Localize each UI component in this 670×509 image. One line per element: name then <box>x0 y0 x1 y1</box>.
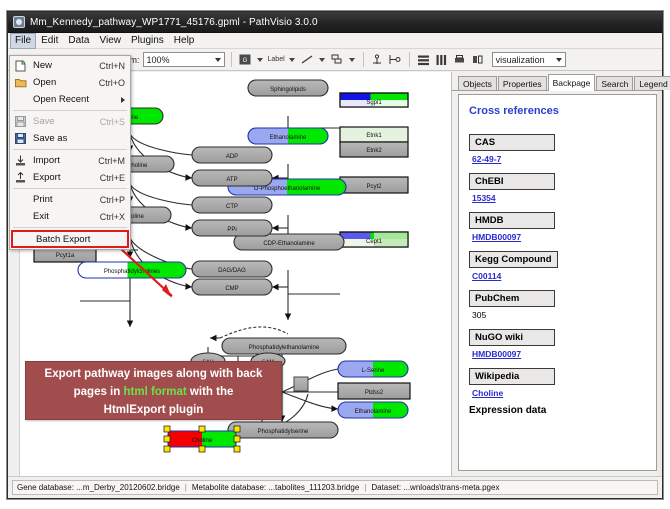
import-icon <box>12 154 29 168</box>
file-menu-item-open-label: Open <box>29 77 99 88</box>
file-menu-item-import[interactable]: Import Ctrl+M <box>10 152 130 169</box>
xref-chebi-value[interactable]: 15354 <box>472 193 656 203</box>
file-menu-item-import-accel: Ctrl+M <box>98 156 130 166</box>
xref-chebi-label: ChEBI <box>469 173 555 190</box>
xref-chebi-link[interactable]: 15354 <box>472 193 496 203</box>
svg-text:DAG/DAG: DAG/DAG <box>218 268 246 274</box>
svg-text:Pcyt1a: Pcyt1a <box>56 253 75 259</box>
folder-open-icon <box>12 76 29 90</box>
callout-line-1: Export pathway images along with back <box>26 365 281 383</box>
svg-text:Phosphatidylethanolamine: Phosphatidylethanolamine <box>249 345 320 351</box>
svg-text:O-Phosphoethanolamine: O-Phosphoethanolamine <box>254 186 321 192</box>
status-gene-db-value: ...m_Derby_20120602.bridge <box>76 483 180 492</box>
svg-text:CMP: CMP <box>225 286 238 292</box>
svg-text:Phosphatidylserine: Phosphatidylserine <box>258 429 309 435</box>
svg-text:Sgpl1: Sgpl1 <box>366 100 382 106</box>
file-menu-item-print-accel: Ctrl+P <box>100 195 130 205</box>
menu-plugins[interactable]: Plugins <box>126 33 169 49</box>
file-menu-item-exit-label: Exit <box>29 211 100 222</box>
file-menu-item-import-label: Import <box>29 155 98 166</box>
file-menu-item-open[interactable]: Open Ctrl+O <box>10 74 130 91</box>
menu-help[interactable]: Help <box>169 33 200 49</box>
xref-cas: CAS 62-49-7 <box>469 132 656 164</box>
xref-kegg-link[interactable]: C00114 <box>472 271 501 281</box>
svg-text:Ptdss2: Ptdss2 <box>365 390 384 396</box>
file-menu-item-batch-export[interactable]: Batch Export <box>11 230 129 248</box>
svg-text:CDP-Ethanolamine: CDP-Ethanolamine <box>263 241 315 247</box>
grid-icon[interactable]: G <box>238 52 253 67</box>
xref-hmdb-value[interactable]: HMDB00097 <box>472 232 656 242</box>
status-dataset-label: Dataset: <box>371 483 401 492</box>
svg-text:Pcyt2: Pcyt2 <box>366 184 382 190</box>
line-chevron-down-icon[interactable] <box>319 58 325 62</box>
visualization-value: visualization <box>496 55 545 65</box>
tab-legend[interactable]: Legend <box>634 76 670 90</box>
svg-text:ADP: ADP <box>226 154 238 160</box>
file-menu-item-open-recent-label: Open Recent <box>29 94 130 105</box>
menu-edit[interactable]: Edit <box>36 33 63 49</box>
pathvisio-icon <box>13 16 25 28</box>
toolbar-divider <box>231 52 232 67</box>
svg-text:G: G <box>243 58 248 64</box>
xref-pubchem-label: PubChem <box>469 290 555 307</box>
menu-bar: File Edit Data View Plugins Help <box>8 33 662 49</box>
anchor-icon[interactable] <box>370 52 385 67</box>
new-file-icon <box>12 59 29 73</box>
xref-kegg-label: Kegg Compound <box>469 251 558 268</box>
file-menu-separator-1 <box>13 110 127 111</box>
file-menu-item-save-accel: Ctrl+S <box>100 117 130 127</box>
status-metabolite-db-label: Metabolite database: <box>192 483 266 492</box>
zoom-combobox[interactable]: 100% <box>143 52 225 67</box>
file-menu-item-exit-accel: Ctrl+X <box>100 212 130 222</box>
align-rows-icon[interactable] <box>416 52 431 67</box>
expression-data-heading: Expression data <box>469 405 656 416</box>
visualization-chevron-down-icon <box>556 58 562 62</box>
callout-line-3: HtmlExport plugin <box>26 401 281 419</box>
xref-wikipedia-link[interactable]: Choline <box>472 388 503 398</box>
svg-text:Choline: Choline <box>192 438 213 444</box>
xref-kegg: Kegg Compound C00114 <box>469 249 656 281</box>
open-recent-icon <box>12 93 29 107</box>
xref-hmdb: HMDB HMDB00097 <box>469 210 656 242</box>
label-icon[interactable]: Label <box>268 56 285 63</box>
xref-cas-label: CAS <box>469 134 555 151</box>
group-icon[interactable] <box>470 52 485 67</box>
xref-cas-value[interactable]: 62-49-7 <box>472 154 656 164</box>
export-icon <box>12 171 29 185</box>
file-menu-item-open-accel: Ctrl+O <box>99 78 130 88</box>
side-panel-scrollbar[interactable] <box>657 91 662 476</box>
callout-line-2-a: pages in <box>74 386 124 398</box>
file-menu-separator-2 <box>13 149 127 150</box>
file-menu-item-new[interactable]: New Ctrl+N <box>10 57 130 74</box>
tab-properties[interactable]: Properties <box>498 76 547 90</box>
file-menu-separator-3 <box>13 188 127 189</box>
backpage-title: Cross references <box>469 105 656 117</box>
visualization-combobox[interactable]: visualization <box>492 52 566 67</box>
file-menu-separator-4 <box>13 227 127 228</box>
save-as-icon <box>12 132 29 146</box>
status-bar: Gene database: ...m_Derby_20120602.bridg… <box>8 476 662 498</box>
title-bar: Mm_Kennedy_pathway_WP1771_45176.gpml - P… <box>8 12 662 33</box>
svg-text:Ethanolamine: Ethanolamine <box>270 135 307 141</box>
file-menu-item-export[interactable]: Export Ctrl+E <box>10 169 130 186</box>
status-text: Gene database: ...m_Derby_20120602.bridg… <box>12 480 658 495</box>
application-window: Mm_Kennedy_pathway_WP1771_45176.gpml - P… <box>7 11 663 499</box>
file-menu-item-save-as-label: Save as <box>29 133 125 144</box>
svg-text:Ethanolamine: Ethanolamine <box>355 409 392 415</box>
status-gene-db-label: Gene database: <box>17 483 74 492</box>
xref-cas-link[interactable]: 62-49-7 <box>472 154 501 164</box>
side-panel: Objects Properties Backpage Search Legen… <box>452 72 662 476</box>
svg-text:Cept1: Cept1 <box>366 239 383 245</box>
save-icon <box>12 115 29 129</box>
status-divider-2: | <box>364 483 366 492</box>
print-menu-icon <box>12 193 29 207</box>
file-menu-item-save-label: Save <box>29 116 100 127</box>
svg-text:L-Serine: L-Serine <box>362 368 385 374</box>
line-icon[interactable] <box>300 52 315 67</box>
backpage-content[interactable]: Cross references CAS 62-49-7 ChEBI 15354… <box>458 94 657 471</box>
xref-kegg-value[interactable]: C00114 <box>472 271 656 281</box>
file-menu-item-new-label: New <box>29 60 99 71</box>
file-menu-item-save-as[interactable]: Save as <box>10 130 130 147</box>
exit-icon <box>12 210 29 224</box>
screenshot-root: Mm_Kennedy_pathway_WP1771_45176.gpml - P… <box>0 0 670 509</box>
xref-nugo-value[interactable]: HMDB00097 <box>472 349 656 359</box>
file-menu-item-open-recent[interactable]: Open Recent <box>10 91 130 108</box>
zoom-value: 100% <box>147 55 170 65</box>
file-menu-item-print-label: Print <box>29 194 100 205</box>
status-divider-1: | <box>185 483 187 492</box>
svg-text:PPi: PPi <box>227 227 236 233</box>
shape-chevron-down-icon[interactable] <box>349 58 355 62</box>
xref-chebi: ChEBI 15354 <box>469 171 656 203</box>
svg-text:ATP: ATP <box>226 177 237 183</box>
file-menu-item-export-label: Export <box>29 172 100 183</box>
status-dataset-value: ...wnloads\trans-meta.pgex <box>403 483 499 492</box>
callout-line-2-b: with the <box>187 386 234 398</box>
tab-backpage[interactable]: Backpage <box>548 74 596 91</box>
xref-wikipedia: Wikipedia Choline <box>469 366 656 398</box>
svg-text:Sphingolipids: Sphingolipids <box>270 87 306 93</box>
xref-nugo-label: NuGO wiki <box>469 329 555 346</box>
grid-chevron-down-icon[interactable] <box>257 58 263 62</box>
file-menu-item-export-accel: Ctrl+E <box>100 173 130 183</box>
xref-hmdb-link[interactable]: HMDB00097 <box>472 232 521 242</box>
menu-file[interactable]: File <box>10 33 36 49</box>
toolbar-divider-3 <box>409 52 410 67</box>
file-menu-dropdown[interactable]: New Ctrl+N Open Ctrl+O Open Recent <box>9 55 131 250</box>
svg-text:Phosphatidylcholines: Phosphatidylcholines <box>104 269 160 275</box>
tab-objects[interactable]: Objects <box>458 76 497 90</box>
anchor-link-icon[interactable] <box>388 52 403 67</box>
chevron-right-icon <box>121 97 125 103</box>
callout-annotation: Export pathway images along with back pa… <box>25 361 282 420</box>
file-menu-item-save[interactable]: Save Ctrl+S <box>10 113 130 130</box>
batch-export-icon <box>15 232 32 246</box>
xref-pubchem-value: 305 <box>472 310 656 320</box>
xref-hmdb-label: HMDB <box>469 212 555 229</box>
callout-highlight: html format <box>123 386 186 398</box>
label-chevron-down-icon[interactable] <box>289 58 295 62</box>
print-icon[interactable] <box>452 52 467 67</box>
svg-text:Etnk1: Etnk1 <box>366 133 382 139</box>
file-menu-item-exit[interactable]: Exit Ctrl+X <box>10 208 130 225</box>
svg-text:Etnk2: Etnk2 <box>366 148 382 154</box>
svg-text:CTP: CTP <box>226 204 238 210</box>
xref-wikipedia-value[interactable]: Choline <box>472 388 656 398</box>
chevron-down-icon <box>215 58 221 62</box>
shape-icon[interactable] <box>330 52 345 67</box>
file-menu-item-print[interactable]: Print Ctrl+P <box>10 191 130 208</box>
side-panel-tabs: Objects Properties Backpage Search Legen… <box>452 72 662 91</box>
status-metabolite-db-value: ...tabolites_111203.bridge <box>268 483 359 492</box>
file-menu-item-batch-export-label: Batch Export <box>32 234 127 245</box>
callout-line-2: pages in html format with the <box>26 383 281 401</box>
menu-view[interactable]: View <box>94 33 126 49</box>
xref-pubchem: PubChem 305 <box>469 288 656 320</box>
toolbar-divider-2 <box>363 52 364 67</box>
align-columns-icon[interactable] <box>434 52 449 67</box>
xref-nugo: NuGO wiki HMDB00097 <box>469 327 656 359</box>
anchor-box <box>294 377 308 391</box>
xref-nugo-link[interactable]: HMDB00097 <box>472 349 521 359</box>
file-menu-item-new-accel: Ctrl+N <box>99 61 130 71</box>
tab-search[interactable]: Search <box>596 76 633 90</box>
menu-data[interactable]: Data <box>63 33 94 49</box>
window-title: Mm_Kennedy_pathway_WP1771_45176.gpml - P… <box>30 17 318 28</box>
xref-wikipedia-label: Wikipedia <box>469 368 555 385</box>
